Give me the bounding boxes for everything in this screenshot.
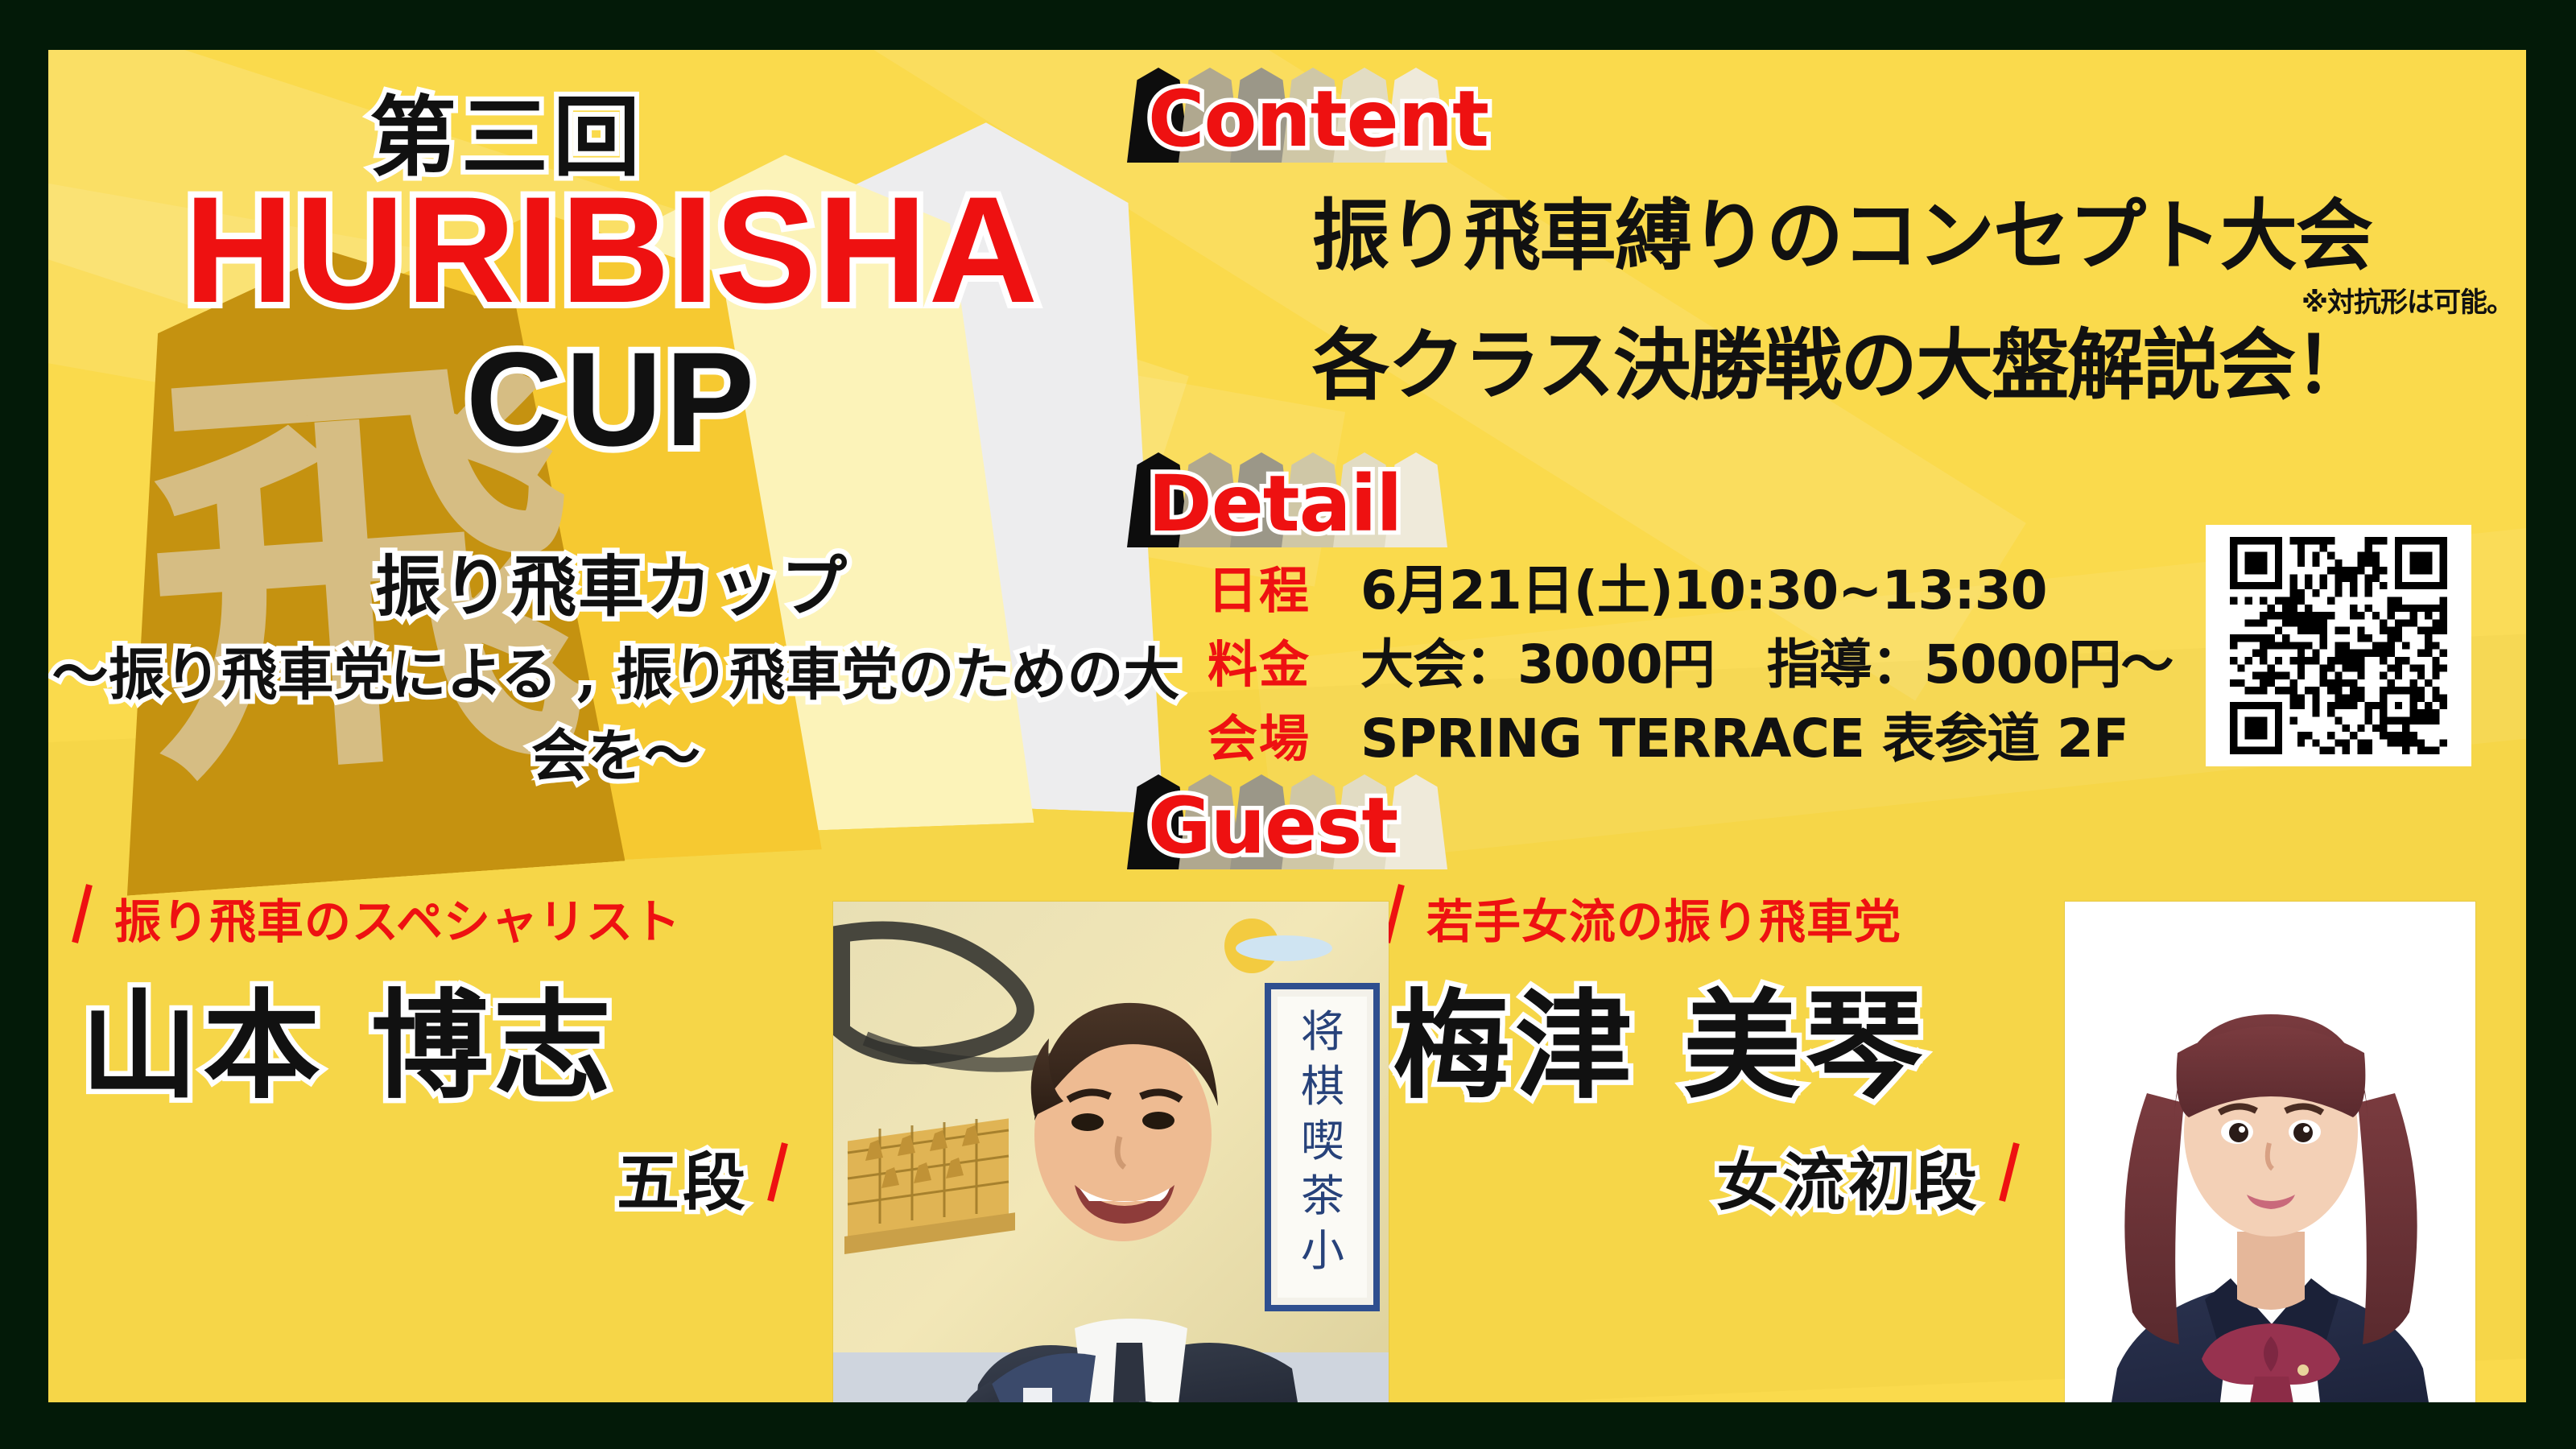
guest-name-right: 梅津 美琴 [1393, 952, 2029, 1121]
poster-root: 飛 第三回 HURIBISHA CUP 振り飛車カップ 〜振り飛車党による , … [0, 0, 2576, 1449]
svg-text:将: 将 [1301, 1006, 1344, 1057]
guest-role-right: 若手女流の振り飛車党 [1426, 884, 1901, 952]
detail-value-fee: 大会：3000円 指導：5000円～ [1360, 621, 2173, 699]
title-block: 第三回 HURIBISHA CUP 振り飛車カップ 〜振り飛車党による , 振り… [48, 50, 1175, 726]
detail-value-venue: SPRING TERRACE 表参道 2F [1360, 696, 2128, 773]
badge-label-content: Content [1148, 74, 1488, 164]
poster-canvas: 飛 第三回 HURIBISHA CUP 振り飛車カップ 〜振り飛車党による , … [48, 50, 2526, 1402]
detail-row: 会場 SPRING TERRACE 表参道 2F [1207, 697, 2173, 771]
content-line-1: 振り飛車縛りのコンセプト大会 [1312, 195, 2520, 279]
guest-card-right: 若手女流の振り飛車党 梅津 美琴 女流初段 [1385, 879, 2029, 1210]
guest-rank-right: 女流初段 [1716, 1133, 1980, 1223]
content-note: ※対抗形は可能。 [1312, 280, 2513, 320]
detail-row: 日程 6月21日(土)10:30~13:30 [1207, 549, 2173, 623]
tagline: 〜振り飛車党による , 振り飛車党のための大会を〜 [48, 630, 1183, 792]
guest-rank-left: 五段 [617, 1133, 749, 1223]
decor-slash-right-2 [1999, 1142, 2020, 1202]
guest-photo-right [2065, 902, 2475, 1402]
guest-role-left: 振り飛車のスペシャリスト [114, 884, 681, 952]
badge-label-detail: Detail [1148, 459, 1402, 549]
detail-label-fee: 料金 [1207, 624, 1360, 696]
svg-text:喫: 喫 [1301, 1116, 1344, 1166]
detail-label-venue: 会場 [1207, 698, 1360, 770]
title-japanese: 振り飛車カップ [72, 533, 1151, 629]
decor-slash-left-2 [767, 1142, 788, 1202]
guest-card-left: 振り飛車のスペシャリスト 山本 博志 五段 [72, 879, 797, 1210]
guest-name-left: 山本 博志 [80, 952, 797, 1121]
detail-value-date: 6月21日(土)10:30~13:30 [1360, 547, 2047, 625]
svg-text:小: 小 [1301, 1225, 1344, 1276]
content-text-group: 振り飛車縛りのコンセプト大会 ※対抗形は可能。 各クラス決勝戦の大盤解説会！ [1312, 195, 2520, 407]
badge-label-guest: Guest [1148, 781, 1397, 871]
qr-code-panel[interactable] [2206, 525, 2471, 766]
title-huribisha: HURIBISHA [72, 163, 1151, 336]
content-line-2: 各クラス決勝戦の大盤解説会！ [1312, 324, 2520, 408]
svg-text:棋: 棋 [1301, 1061, 1344, 1112]
detail-label-date: 日程 [1207, 550, 1360, 622]
detail-row: 料金 大会：3000円 指導：5000円～ [1207, 623, 2173, 697]
guest-photo-left: 将棋 喫茶 小 [833, 902, 1389, 1402]
svg-text:茶: 茶 [1301, 1170, 1344, 1221]
title-cup: CUP [72, 324, 1151, 477]
qr-code-image[interactable] [2230, 537, 2447, 754]
decor-slash-left [72, 884, 93, 943]
detail-table: 日程 6月21日(土)10:30~13:30 料金 大会：3000円 指導：50… [1207, 549, 2173, 771]
